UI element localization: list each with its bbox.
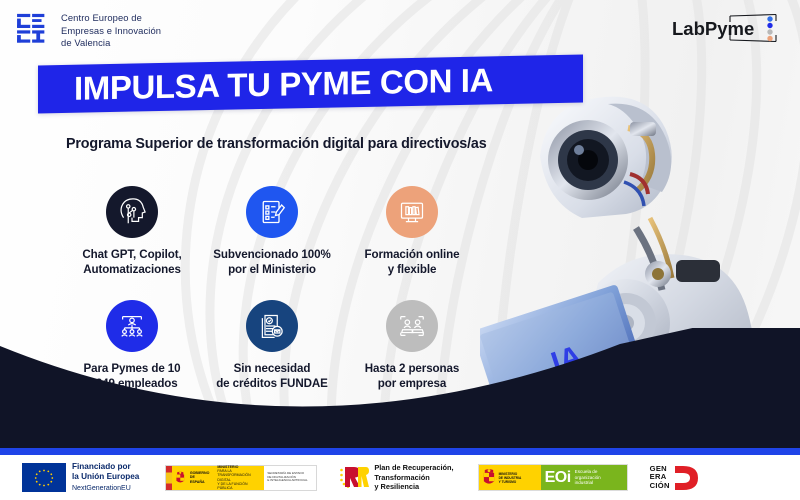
generacion-line-3: CIÓN (650, 482, 670, 491)
feature-label: Chat GPT, Copilot, Automatizaciones (82, 247, 181, 278)
ceei-monogram-icon (16, 12, 52, 44)
eu-program: NextGenerationEU (72, 484, 139, 493)
ministry-name: MINISTERIO PARA LA TRANSFORMACIÓN DIGITA… (217, 465, 261, 491)
feature-icon-circle (386, 186, 438, 238)
promo-banner: Centro Europeo de Empresas e Innovación … (0, 0, 800, 500)
feature-label: Subvencionado 100% por el Ministerio (213, 247, 330, 278)
secretaria-line-3: E INTELIGENCIA ARTIFICIAL (267, 479, 307, 483)
ceei-logo-text: Centro Europeo de Empresas e Innovación … (61, 12, 161, 50)
spain-coat-of-arms-icon (175, 468, 186, 488)
eoi-sub-line-3: industrial (575, 480, 601, 486)
prtr-line-2: Transformación (374, 473, 453, 483)
ceei-line-3: de Valencia (61, 37, 161, 50)
labpyme-logo[interactable]: LabPyme (668, 10, 786, 46)
generacion-text: GEN ERA CIÓN (650, 465, 670, 491)
ai-head-icon (117, 197, 147, 227)
eoi-sub-line-1: Escuela de (575, 469, 601, 475)
feature-item-chatgpt: Chat GPT, Copilot, Automatizaciones (62, 186, 202, 278)
labpyme-dot-1 (767, 16, 772, 21)
robot-neck-bolt (652, 268, 664, 280)
secretaria-block: SECRETARÍA DE ESTADO DE DIGITALIZACIÓN E… (264, 466, 316, 490)
form-pen-icon (258, 198, 286, 226)
eoi-ministry-block: MINISTERIO DE INDUSTRIA Y TURISMO (479, 465, 541, 490)
ceei-logo[interactable]: Centro Europeo de Empresas e Innovación … (16, 12, 161, 50)
gobierno-yellow-block: GOBIERNO DE ESPAÑA MINISTERIO PARA LA TR… (172, 466, 264, 490)
blue-accent-stripe (0, 448, 800, 455)
plan-recuperacion-logo: Plan de Recuperación, Transformación y R… (339, 463, 453, 493)
footer-logos-bar: Financiado por la Unión Europea NextGene… (0, 455, 800, 500)
ministry-line-3: Y DE LA FUNCIÓN PÚBLICA (217, 482, 261, 491)
eu-line-2: la Unión Europea (72, 472, 139, 483)
labpyme-dot-3 (767, 29, 772, 34)
eu-funding-text: Financiado por la Unión Europea NextGene… (72, 462, 139, 493)
feature-label: Formación online y flexible (364, 247, 459, 278)
gobierno-name: GOBIERNO DE ESPAÑA (190, 471, 210, 484)
eoi-logo: MINISTERIO DE INDUSTRIA Y TURISMO EOi Es… (478, 464, 628, 491)
eoi-subtitle: Escuela de organización industrial (575, 469, 601, 487)
labpyme-dot-2 (767, 23, 772, 28)
robot-back-panel (676, 260, 720, 282)
eoi-wordmark: EOi (545, 469, 571, 487)
prtr-line-1: Plan de Recuperación, (374, 463, 453, 473)
eoi-ministry-line-2: DE INDUSTRIA (499, 476, 522, 480)
page-title: IMPULSA TU PYME CON IA (74, 61, 493, 107)
robot-face-plate (630, 122, 656, 136)
labpyme-dot-4 (767, 36, 772, 41)
ministry-line-2: PARA LA TRANSFORMACIÓN DIGITAL (217, 469, 261, 482)
features-row-1: Chat GPT, Copilot, Automatizaciones Subv… (62, 186, 482, 278)
monitor-books-icon (398, 198, 426, 226)
eu-funding-logo: Financiado por la Unión Europea NextGene… (22, 462, 139, 493)
prtr-text: Plan de Recuperación, Transformación y R… (374, 463, 453, 493)
feature-icon-circle (246, 186, 298, 238)
generacion-d-mark-icon (673, 464, 699, 492)
ceei-line-1: Centro Europeo de (61, 12, 161, 25)
navy-curve-shape (0, 328, 800, 448)
generacion-d-logo: GEN ERA CIÓN (650, 464, 699, 492)
eu-flag-icon (22, 463, 66, 492)
feature-icon-circle (106, 186, 158, 238)
gobierno-de-espana-logo: GOBIERNO DE ESPAÑA MINISTERIO PARA LA TR… (165, 465, 317, 491)
eu-line-1: Financiado por (72, 462, 139, 473)
eoi-ministry-text: MINISTERIO DE INDUSTRIA Y TURISMO (499, 472, 522, 484)
robot-eye-highlight (574, 145, 584, 155)
feature-item-formacion: Formación online y flexible (342, 186, 482, 278)
secretaria-name: SECRETARÍA DE ESTADO DE DIGITALIZACIÓN E… (267, 472, 307, 483)
eoi-ministry-line-3: Y TURISMO (499, 480, 522, 484)
ceei-line-2: Empresas e Innovación (61, 25, 161, 38)
prtr-line-3: y Resiliencia (374, 482, 453, 492)
eoi-brand-block: EOi Escuela de organización industrial (541, 465, 627, 490)
gobierno-line-2: DE ESPAÑA (190, 475, 210, 484)
labpyme-wordmark: LabPyme (672, 18, 754, 39)
spain-coat-of-arms-icon (482, 468, 496, 487)
prtr-monogram-icon (339, 463, 369, 491)
hero-subtitle: Programa Superior de transformación digi… (66, 136, 487, 152)
feature-item-subvencionado: Subvencionado 100% por el Ministerio (202, 186, 342, 278)
